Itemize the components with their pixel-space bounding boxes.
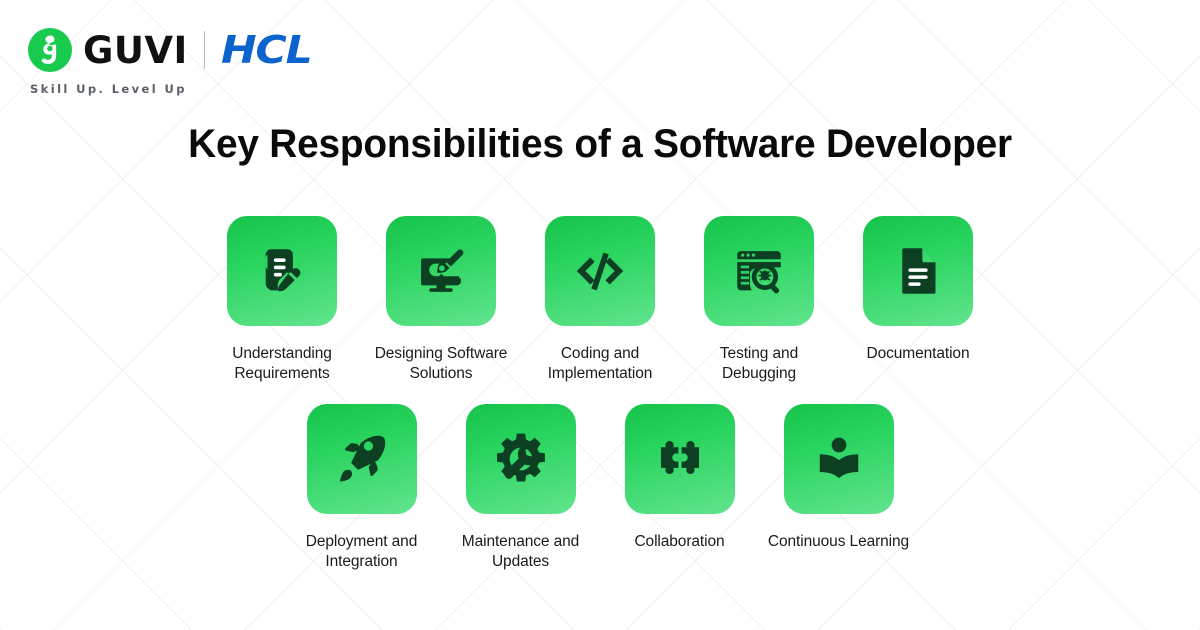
tile-maintenance-and-updates[interactable]	[466, 404, 576, 514]
document-pen-icon	[253, 242, 311, 300]
monitor-paintbrush-icon	[412, 242, 470, 300]
gear-wrench-icon	[492, 430, 550, 488]
brand-divider	[204, 31, 206, 69]
responsibility-label: Deployment and Integration	[287, 532, 437, 572]
responsibility-item-testing-and-debugging[interactable]: Testing and Debugging	[680, 216, 839, 384]
tile-designing-software-solutions[interactable]	[386, 216, 496, 326]
page-title: Key Responsibilities of a Software Devel…	[18, 122, 1182, 167]
responsibility-item-documentation[interactable]: Documentation	[839, 216, 998, 384]
person-book-icon	[811, 431, 867, 487]
tile-continuous-learning[interactable]	[784, 404, 894, 514]
responsibility-label: Understanding Requirements	[207, 344, 357, 384]
responsibility-item-designing-software-solutions[interactable]: Designing Software Solutions	[362, 216, 521, 384]
responsibility-label: Continuous Learning	[764, 532, 914, 552]
responsibility-item-maintenance-and-updates[interactable]: Maintenance and Updates	[441, 404, 600, 572]
rocket-icon	[333, 430, 391, 488]
tile-documentation[interactable]	[863, 216, 973, 326]
code-brackets-icon	[570, 241, 630, 301]
responsibility-label: Documentation	[843, 344, 993, 364]
brand-header: GUVI HCL Skill Up. Level Up	[28, 27, 302, 96]
brand-logo-row: GUVI HCL	[28, 27, 302, 73]
responsibility-item-deployment-and-integration[interactable]: Deployment and Integration	[282, 404, 441, 572]
responsibility-item-collaboration[interactable]: Collaboration	[600, 404, 759, 572]
responsibility-item-continuous-learning[interactable]: Continuous Learning	[759, 404, 918, 572]
brand-tagline: Skill Up. Level Up	[30, 82, 187, 96]
hcl-wordmark: HCL	[221, 31, 312, 69]
responsibility-label: Testing and Debugging	[684, 344, 834, 384]
responsibility-label: Designing Software Solutions	[366, 344, 516, 384]
responsibility-label: Coding and Implementation	[525, 344, 675, 384]
guvi-circle-g-icon	[28, 28, 72, 72]
responsibility-label: Maintenance and Updates	[446, 532, 596, 572]
responsibility-item-coding-and-implementation[interactable]: Coding and Implementation	[521, 216, 680, 384]
responsibility-row-2: Deployment and Integration Maintenance a…	[0, 404, 1200, 572]
document-lines-icon	[890, 243, 946, 299]
puzzle-pieces-icon	[651, 430, 709, 488]
tile-understanding-requirements[interactable]	[227, 216, 337, 326]
bug-magnifier-icon	[730, 242, 788, 300]
responsibility-item-understanding-requirements[interactable]: Understanding Requirements	[203, 216, 362, 384]
responsibility-row-1: Understanding Requirements	[0, 216, 1200, 384]
tile-coding-and-implementation[interactable]	[545, 216, 655, 326]
tile-testing-and-debugging[interactable]	[704, 216, 814, 326]
tile-deployment-and-integration[interactable]	[307, 404, 417, 514]
responsibility-label: Collaboration	[605, 532, 755, 552]
tile-collaboration[interactable]	[625, 404, 735, 514]
guvi-wordmark: GUVI	[83, 32, 188, 69]
infographic-page: GUVI HCL Skill Up. Level Up Key Responsi…	[0, 0, 1200, 630]
